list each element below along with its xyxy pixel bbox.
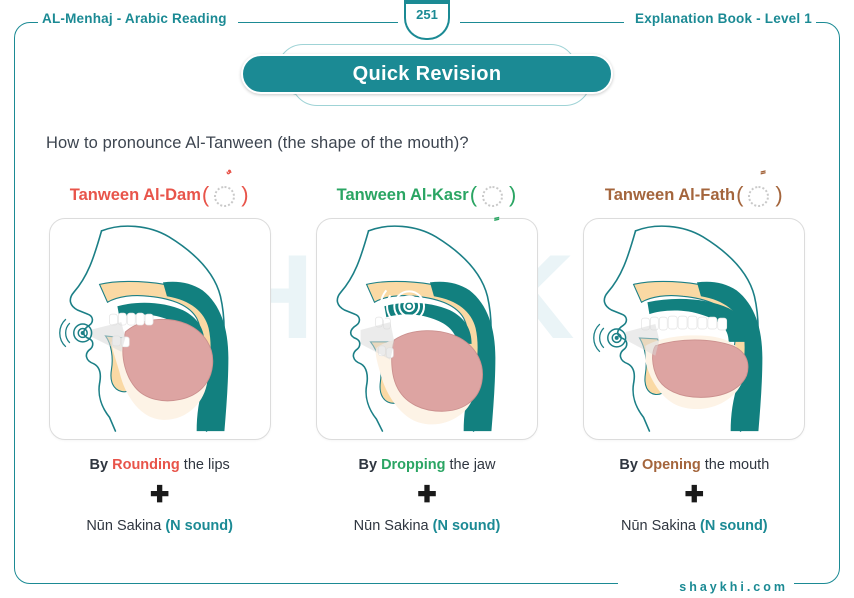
heading-close-paren-kasr: ) (509, 182, 516, 208)
page-number-value: 251 (416, 8, 438, 21)
sound-ring-center (407, 304, 412, 309)
page-number-badge: 251 (404, 0, 450, 40)
banner-title-text: Quick Revision (353, 63, 502, 86)
heading-close-paren-fath: ) (775, 182, 782, 208)
heading-label-dam: Tanween Al-Dam (70, 186, 201, 205)
heading-open-paren-dam: ( (202, 182, 209, 208)
column-tanween-al-fath: Tanween Al-Fath ( ً ) (561, 176, 828, 534)
heading-tanween-al-fath: Tanween Al-Fath ( ً ) (605, 176, 784, 214)
tanween-columns: Tanween Al-Dam ( ٌ ) (26, 176, 828, 534)
dotted-placeholder-circle-kasr (482, 186, 503, 207)
nun-sakina-label-fath: Nūn Sakina (621, 518, 700, 534)
column-tanween-al-dam: Tanween Al-Dam ( ٌ ) (26, 176, 293, 534)
caption-keyword-rounding: Rounding (112, 457, 180, 473)
badge-cap (404, 0, 450, 4)
sound-ring-center (80, 331, 84, 335)
caption-dropping: By Dropping the jaw (358, 457, 495, 473)
footer-website: shaykhi.com (679, 580, 788, 594)
sound-rings (594, 324, 626, 352)
n-sound-badge-fath: (N sound) (700, 518, 768, 534)
header-book-title: AL-Menhaj - Arabic Reading (42, 11, 227, 26)
heading-tanween-al-dam: Tanween Al-Dam ( ٌ ) (70, 176, 250, 214)
mouth-cross-section-open-mouth (584, 219, 804, 439)
question-text: How to pronounce Al-Tanween (the shape o… (46, 134, 469, 153)
kasratan-glyph: ٍ (478, 205, 508, 220)
sub-caption-kasr: Nūn Sakina (N sound) (354, 518, 501, 534)
harakah-mark-fathatan: ً (744, 180, 774, 210)
sound-ring-center (615, 336, 619, 340)
caption-prefix-fath: By (619, 457, 642, 473)
n-sound-badge-dam: (N sound) (165, 518, 233, 534)
mouth-cross-section-rounded-lips (50, 219, 270, 439)
title-banner: Quick Revision (227, 42, 627, 104)
harakah-mark-kasratan: ٍ (478, 180, 508, 210)
airflow-wedge (626, 324, 660, 356)
heading-tanween-al-kasr: Tanween Al-Kasr ( ٍ ) (337, 176, 518, 214)
sub-caption-fath: Nūn Sakina (N sound) (621, 518, 768, 534)
diagram-card-rounded-lips (49, 218, 271, 440)
caption-rounding: By Rounding the lips (90, 457, 230, 473)
plus-icon-kasr: ✚ (417, 483, 436, 506)
dotted-placeholder-circle-dam (214, 186, 235, 207)
diagram-card-open-mouth (583, 218, 805, 440)
caption-opening: By Opening the mouth (619, 457, 769, 473)
heading-label-kasr: Tanween Al-Kasr (337, 186, 469, 205)
caption-prefix-kasr: By (358, 457, 381, 473)
heading-close-paren-dam: ) (241, 182, 248, 208)
sub-caption-dam: Nūn Sakina (N sound) (86, 518, 233, 534)
sound-rings (59, 319, 91, 347)
fathatan-glyph: ً (744, 171, 774, 186)
lesson-page: AL-Menhaj - Arabic Reading Explanation B… (0, 0, 854, 598)
plus-icon-fath: ✚ (685, 483, 704, 506)
heading-label-fath: Tanween Al-Fath (605, 186, 735, 205)
nun-sakina-label-kasr: Nūn Sakina (354, 518, 433, 534)
caption-keyword-dropping: Dropping (381, 457, 445, 473)
plus-icon-dam: ✚ (150, 483, 169, 506)
caption-keyword-opening: Opening (642, 457, 701, 473)
caption-suffix-kasr: the jaw (446, 457, 496, 473)
airflow-wedge (89, 322, 125, 352)
diagram-card-dropped-jaw (316, 218, 538, 440)
header-book-level: Explanation Book - Level 1 (635, 11, 812, 26)
column-tanween-al-kasr: Tanween Al-Kasr ( ٍ ) (293, 176, 560, 534)
caption-prefix-dam: By (90, 457, 113, 473)
heading-open-paren-fath: ( (736, 182, 743, 208)
caption-suffix-fath: the mouth (701, 457, 770, 473)
caption-suffix-dam: the lips (180, 457, 230, 473)
n-sound-badge-kasr: (N sound) (433, 518, 501, 534)
nun-sakina-label-dam: Nūn Sakina (86, 518, 165, 534)
dotted-placeholder-circle-fath (748, 186, 769, 207)
mouth-cross-section-dropped-jaw (317, 219, 537, 439)
dammatan-glyph: ٌ (210, 171, 240, 186)
banner-pill: Quick Revision (241, 54, 613, 94)
heading-open-paren-kasr: ( (470, 182, 477, 208)
harakah-mark-dammatan: ٌ (210, 180, 240, 210)
